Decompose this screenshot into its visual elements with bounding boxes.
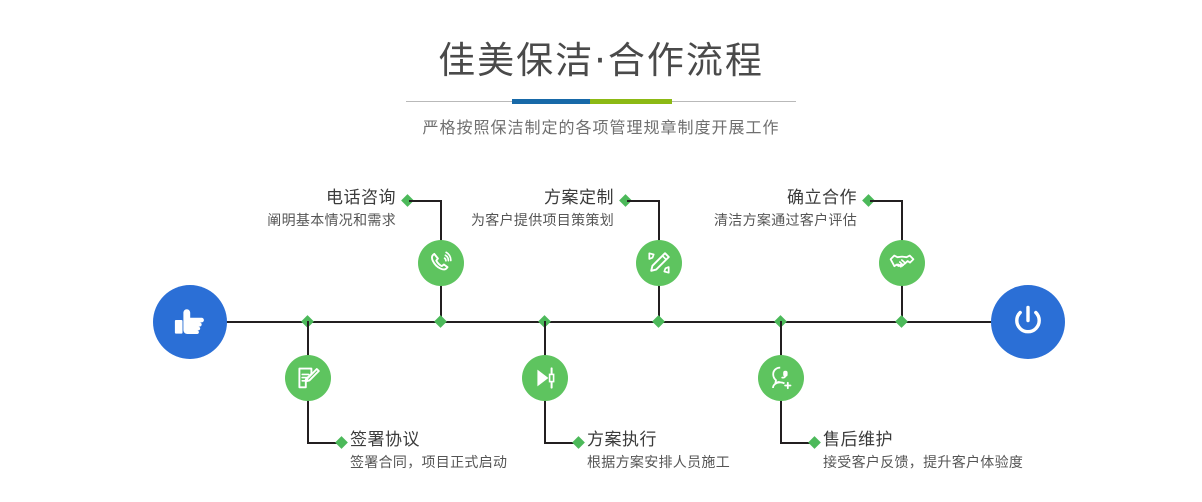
axis-marker-diamond xyxy=(652,315,665,328)
step-label-1: 电话咨询 阐明基本情况和需求 xyxy=(193,187,396,232)
step-desc: 签署合同，项目正式启动 xyxy=(350,451,590,474)
step-title: 方案定制 xyxy=(411,187,614,209)
timeline: 电话咨询 阐明基本情况和需求 签署协议 签署合同，项目正式启动 xyxy=(0,0,1202,502)
step-label-6: 售后维护 接受客户反馈，提升客户体验度 xyxy=(823,429,1083,474)
step-label-5: 确立合作 清洁方案通过客户评估 xyxy=(654,187,857,232)
step-title: 签署协议 xyxy=(350,429,590,451)
timeline-start-node[interactable] xyxy=(153,285,227,359)
step-title: 方案执行 xyxy=(587,429,827,451)
step-desc: 根据方案安排人员施工 xyxy=(587,451,827,474)
axis-marker-diamond xyxy=(434,315,447,328)
step-title: 售后维护 xyxy=(823,429,1083,451)
step-icon-sign-document[interactable] xyxy=(285,355,331,401)
step-title: 确立合作 xyxy=(654,187,857,209)
step-title: 电话咨询 xyxy=(193,187,396,209)
handshake-icon xyxy=(888,249,916,277)
step-icon-customer-service[interactable] xyxy=(758,355,804,401)
step-desc: 清洁方案通过客户评估 xyxy=(654,209,857,232)
phone-call-icon xyxy=(427,249,455,277)
pencil-design-icon xyxy=(645,249,673,277)
step-icon-play-execute[interactable] xyxy=(522,355,568,401)
power-icon xyxy=(1007,301,1049,343)
process-flow-infographic: 佳美保洁·合作流程 严格按照保洁制定的各项管理规章制度开展工作 xyxy=(0,0,1202,502)
connector-horizontal xyxy=(870,200,902,202)
customer-service-icon xyxy=(767,364,795,392)
play-execute-icon xyxy=(531,364,559,392)
step-icon-pencil-design[interactable] xyxy=(636,240,682,286)
step-desc: 阐明基本情况和需求 xyxy=(193,209,396,232)
step-label-2: 签署协议 签署合同，项目正式启动 xyxy=(350,429,590,474)
step-label-4: 方案执行 根据方案安排人员施工 xyxy=(587,429,827,474)
pointing-hand-icon xyxy=(170,302,210,342)
step-label-3: 方案定制 为客户提供项目策策划 xyxy=(411,187,614,232)
step-icon-phone-call[interactable] xyxy=(418,240,464,286)
step-desc: 接受客户反馈，提升客户体验度 xyxy=(823,451,1083,474)
timeline-end-node[interactable] xyxy=(991,285,1065,359)
axis-marker-diamond xyxy=(895,315,908,328)
step-desc: 为客户提供项目策策划 xyxy=(411,209,614,232)
sign-document-icon xyxy=(294,364,322,392)
step-marker-diamond xyxy=(335,436,348,449)
step-icon-handshake[interactable] xyxy=(879,240,925,286)
